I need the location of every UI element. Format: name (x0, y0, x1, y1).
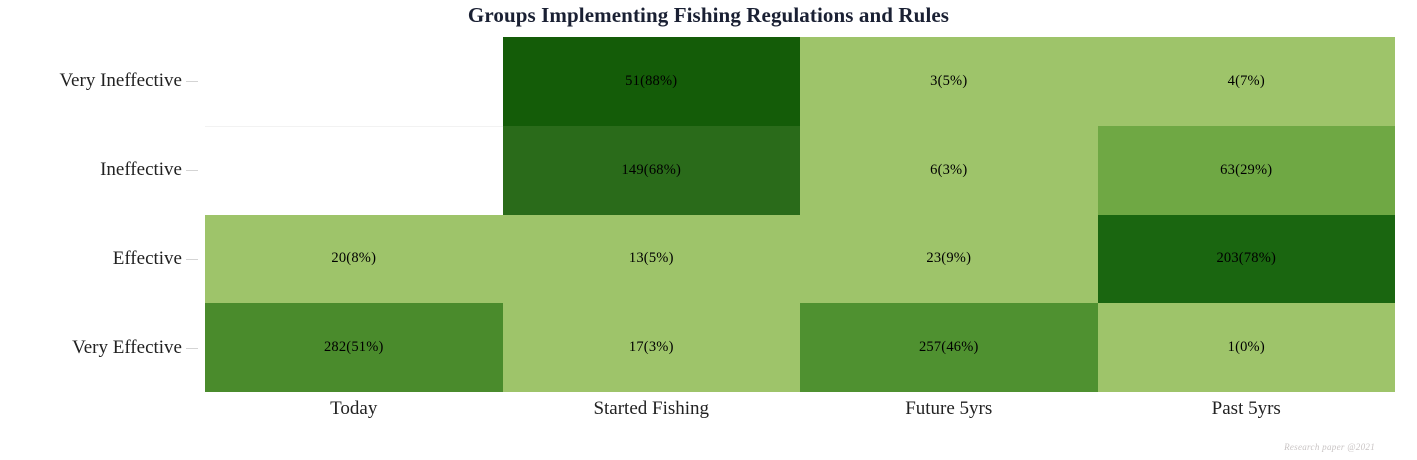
heatmap-cell-label: 203(78%) (1216, 250, 1276, 267)
heatmap-cell-label: 17(3%) (629, 339, 674, 356)
y-axis-tick (186, 348, 198, 349)
heatmap-cell-label: 3(5%) (930, 73, 967, 90)
heatmap-cell[interactable]: 23(9%) (800, 215, 1098, 304)
y-axis-tick (186, 170, 198, 171)
heatmap-cell-label: 51(88%) (625, 73, 677, 90)
heatmap-cell (205, 37, 503, 126)
heatmap-cell-label: 4(7%) (1228, 73, 1265, 90)
heatmap-cell-label: 20(8%) (331, 250, 376, 267)
heatmap-cell[interactable]: 257(46%) (800, 303, 1098, 392)
plot-area: 51(88%)3(5%)4(7%)149(68%)6(3%)63(29%)20(… (205, 37, 1395, 392)
heatmap-cell[interactable]: 1(0%) (1098, 303, 1396, 392)
y-axis-label: Ineffective (100, 159, 182, 181)
x-axis-label: Past 5yrs (1098, 396, 1396, 422)
x-axis-label: Today (205, 396, 503, 422)
heatmap-cell-label: 6(3%) (930, 162, 967, 179)
heatmap-figure: Groups Implementing Fishing Regulations … (0, 0, 1417, 460)
heatmap-cell-label: 63(29%) (1220, 162, 1272, 179)
heatmap-cell (205, 126, 503, 215)
y-axis-label: Effective (113, 248, 182, 270)
heatmap-cell[interactable]: 63(29%) (1098, 126, 1396, 215)
heatmap-cell[interactable]: 203(78%) (1098, 215, 1396, 304)
y-axis-tick (186, 259, 198, 260)
watermark: Research paper @2021 (1284, 442, 1375, 452)
y-axis-tick (186, 81, 198, 82)
heatmap-cell-label: 23(9%) (926, 250, 971, 267)
heatmap-cell[interactable]: 13(5%) (503, 215, 801, 304)
y-axis-label: Very Effective (72, 337, 182, 359)
heatmap-cell[interactable]: 149(68%) (503, 126, 801, 215)
heatmap-cell[interactable]: 3(5%) (800, 37, 1098, 126)
heatmap-cell-label: 149(68%) (621, 162, 681, 179)
y-axis-label: Very Ineffective (59, 70, 182, 92)
heatmap-cell[interactable]: 51(88%) (503, 37, 801, 126)
x-axis-label: Future 5yrs (800, 396, 1098, 422)
heatmap-cell[interactable]: 20(8%) (205, 215, 503, 304)
x-axis: TodayStarted FishingFuture 5yrsPast 5yrs (205, 396, 1395, 426)
heatmap-cell-label: 1(0%) (1228, 339, 1265, 356)
heatmap-cell[interactable]: 17(3%) (503, 303, 801, 392)
heatmap-cell-label: 257(46%) (919, 339, 979, 356)
heatmap-grid: 51(88%)3(5%)4(7%)149(68%)6(3%)63(29%)20(… (205, 37, 1395, 392)
heatmap-cell[interactable]: 4(7%) (1098, 37, 1396, 126)
heatmap-cell[interactable]: 282(51%) (205, 303, 503, 392)
chart-title: Groups Implementing Fishing Regulations … (0, 0, 1417, 32)
heatmap-cell[interactable]: 6(3%) (800, 126, 1098, 215)
y-axis: Very IneffectiveIneffectiveEffectiveVery… (0, 37, 198, 392)
heatmap-cell-label: 282(51%) (324, 339, 384, 356)
x-axis-label: Started Fishing (503, 396, 801, 422)
heatmap-cell-label: 13(5%) (629, 250, 674, 267)
